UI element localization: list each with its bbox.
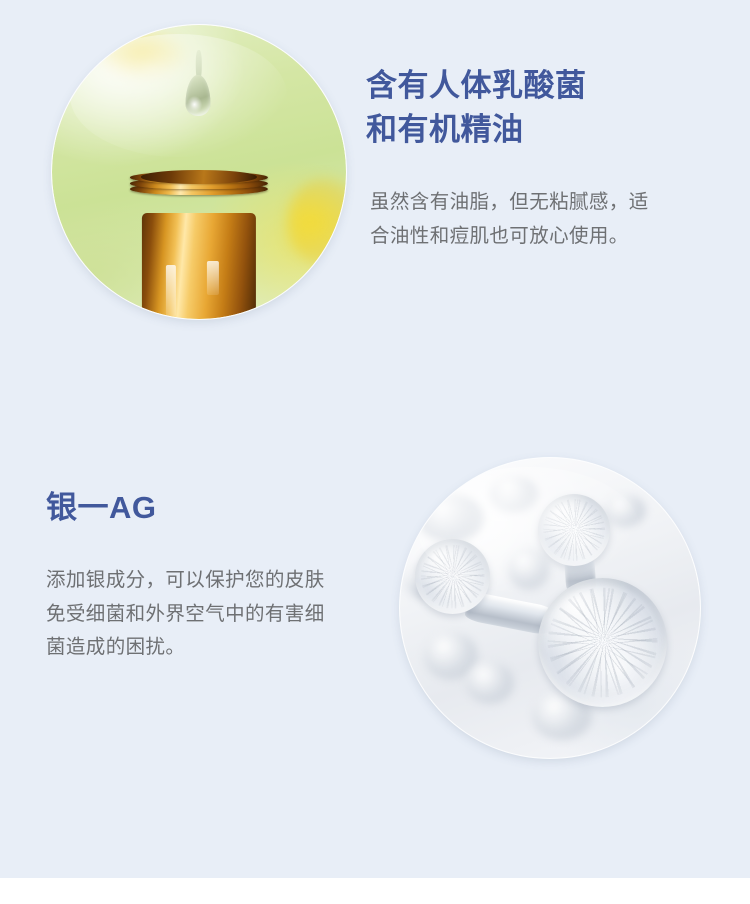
- background-bokeh-highlight: [99, 31, 187, 78]
- molecule-atom: [415, 539, 490, 614]
- silver-molecule-photo: [400, 458, 700, 758]
- bottle-specular-highlight: [207, 261, 219, 294]
- molecule-atom: [538, 494, 610, 566]
- background-bubble: [418, 494, 484, 542]
- molecule-atom: [538, 578, 667, 707]
- section-body-lactobacillus: 虽然含有油脂，但无粘腻感，适 合油性和痘肌也可放心使用。: [370, 186, 700, 253]
- background-bubble: [490, 476, 538, 512]
- oil-droplet: [185, 75, 210, 116]
- essential-oil-bottle-photo: [52, 25, 346, 319]
- background-bubble: [466, 662, 514, 704]
- crystal-frost-pattern: [547, 587, 658, 698]
- background-bubble: [604, 494, 646, 527]
- section-heading-lactobacillus: 含有人体乳酸菌 和有机精油: [366, 64, 706, 152]
- molecule-photo-canvas: [400, 458, 700, 758]
- section-body-silver-ag: 添加银成分，可以保护您的皮肤 免受细菌和外界空气中的有害细 菌造成的困扰。: [46, 564, 396, 665]
- crystal-frost-pattern: [543, 499, 605, 561]
- crystal-frost-pattern: [420, 544, 485, 609]
- background-bokeh-highlight: [287, 178, 346, 266]
- amber-bottle-neck: [130, 172, 268, 319]
- product-feature-page: 含有人体乳酸菌 和有机精油 虽然含有油脂，但无粘腻感，适 合油性和痘肌也可放心使…: [0, 0, 750, 904]
- background-bubble: [508, 548, 550, 590]
- bottle-glass-body: [142, 213, 255, 319]
- bottle-specular-highlight: [166, 265, 176, 316]
- essential-oil-photo-canvas: [52, 25, 346, 319]
- section-heading-silver-ag: 银一AG: [46, 486, 346, 530]
